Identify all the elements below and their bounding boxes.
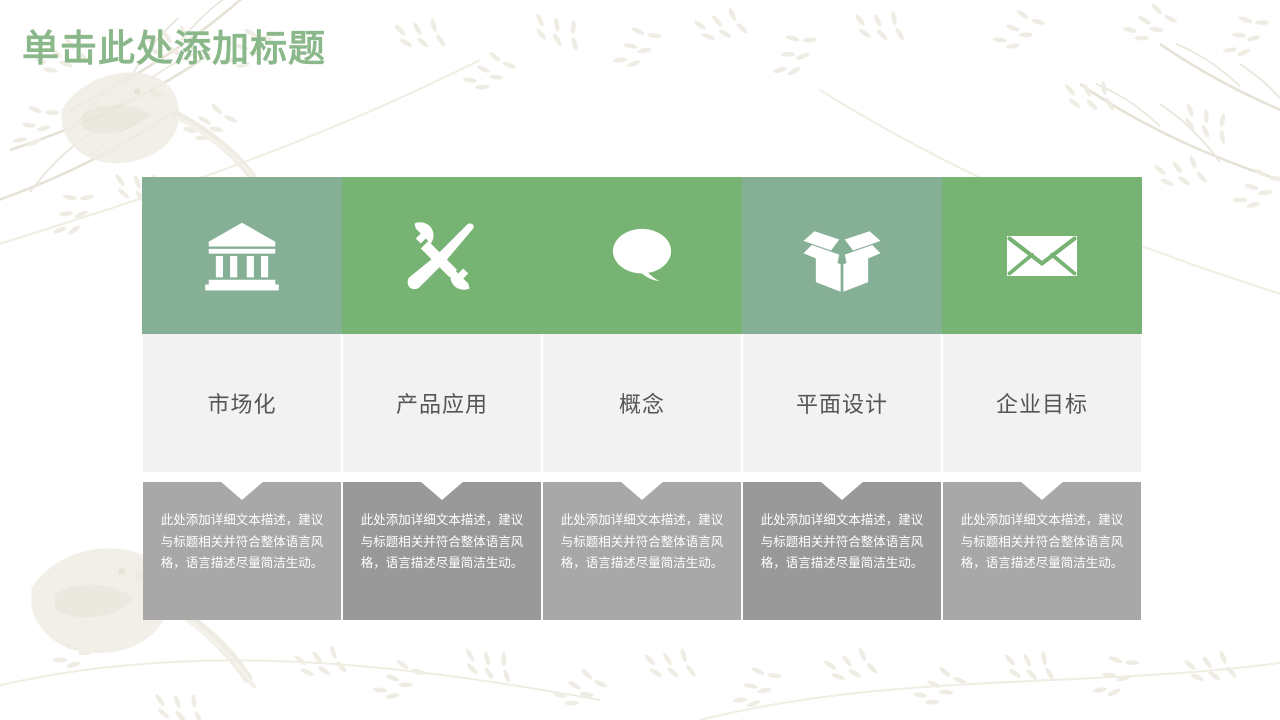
card-label: 产品应用 xyxy=(396,387,488,419)
bank-icon xyxy=(204,218,280,294)
card-column[interactable]: 概念 此处添加详细文本描述，建议与标题相关并符合整体语言风格，语言描述尽量简洁生… xyxy=(542,177,742,620)
card-label: 企业目标 xyxy=(996,387,1088,419)
card-column[interactable]: 企业目标 此处添加详细文本描述，建议与标题相关并符合整体语言风格，语言描述尽量简… xyxy=(942,177,1142,620)
card-column[interactable]: 产品应用 此处添加详细文本描述，建议与标题相关并符合整体语言风格，语言描述尽量简… xyxy=(342,177,542,620)
open-box-icon xyxy=(798,212,886,300)
card-description-panel: 此处添加详细文本描述，建议与标题相关并符合整体语言风格，语言描述尽量简洁生动。 xyxy=(542,482,742,620)
card-label-band: 产品应用 xyxy=(342,334,542,472)
card-label: 平面设计 xyxy=(796,387,888,419)
panel-notch xyxy=(420,482,464,500)
card-gap xyxy=(742,472,942,482)
panel-notch xyxy=(220,482,264,500)
card-icon-header xyxy=(342,177,542,334)
card-description: 此处添加详细文本描述，建议与标题相关并符合整体语言风格，语言描述尽量简洁生动。 xyxy=(759,510,925,575)
card-description-panel: 此处添加详细文本描述，建议与标题相关并符合整体语言风格，语言描述尽量简洁生动。 xyxy=(342,482,542,620)
tools-icon xyxy=(402,216,482,296)
card-gap xyxy=(142,472,342,482)
card-gap xyxy=(942,472,1142,482)
card-gap xyxy=(342,472,542,482)
panel-notch xyxy=(1020,482,1064,500)
card-column[interactable]: 市场化 此处添加详细文本描述，建议与标题相关并符合整体语言风格，语言描述尽量简洁… xyxy=(142,177,342,620)
chat-bubble-icon xyxy=(611,225,673,287)
card-description: 此处添加详细文本描述，建议与标题相关并符合整体语言风格，语言描述尽量简洁生动。 xyxy=(959,510,1125,575)
panel-notch xyxy=(820,482,864,500)
card-label-band: 概念 xyxy=(542,334,742,472)
card-description-panel: 此处添加详细文本描述，建议与标题相关并符合整体语言风格，语言描述尽量简洁生动。 xyxy=(142,482,342,620)
card-gap xyxy=(542,472,742,482)
envelope-icon xyxy=(1002,216,1082,296)
card-label-band: 企业目标 xyxy=(942,334,1142,472)
card-icon-header xyxy=(942,177,1142,334)
card-column[interactable]: 平面设计 此处添加详细文本描述，建议与标题相关并符合整体语言风格，语言描述尽量简… xyxy=(742,177,942,620)
card-description: 此处添加详细文本描述，建议与标题相关并符合整体语言风格，语言描述尽量简洁生动。 xyxy=(359,510,525,575)
page-title: 单击此处添加标题 xyxy=(22,18,326,72)
card-icon-header xyxy=(742,177,942,334)
card-description-panel: 此处添加详细文本描述，建议与标题相关并符合整体语言风格，语言描述尽量简洁生动。 xyxy=(942,482,1142,620)
card-icon-header xyxy=(542,177,742,334)
card-grid: 市场化 此处添加详细文本描述，建议与标题相关并符合整体语言风格，语言描述尽量简洁… xyxy=(142,177,1142,620)
card-label: 概念 xyxy=(619,387,665,419)
panel-notch xyxy=(620,482,664,500)
card-label-band: 平面设计 xyxy=(742,334,942,472)
card-description: 此处添加详细文本描述，建议与标题相关并符合整体语言风格，语言描述尽量简洁生动。 xyxy=(559,510,725,575)
card-icon-header xyxy=(142,177,342,334)
card-description-panel: 此处添加详细文本描述，建议与标题相关并符合整体语言风格，语言描述尽量简洁生动。 xyxy=(742,482,942,620)
card-label-band: 市场化 xyxy=(142,334,342,472)
card-label: 市场化 xyxy=(207,387,276,419)
card-description: 此处添加详细文本描述，建议与标题相关并符合整体语言风格，语言描述尽量简洁生动。 xyxy=(159,510,325,575)
